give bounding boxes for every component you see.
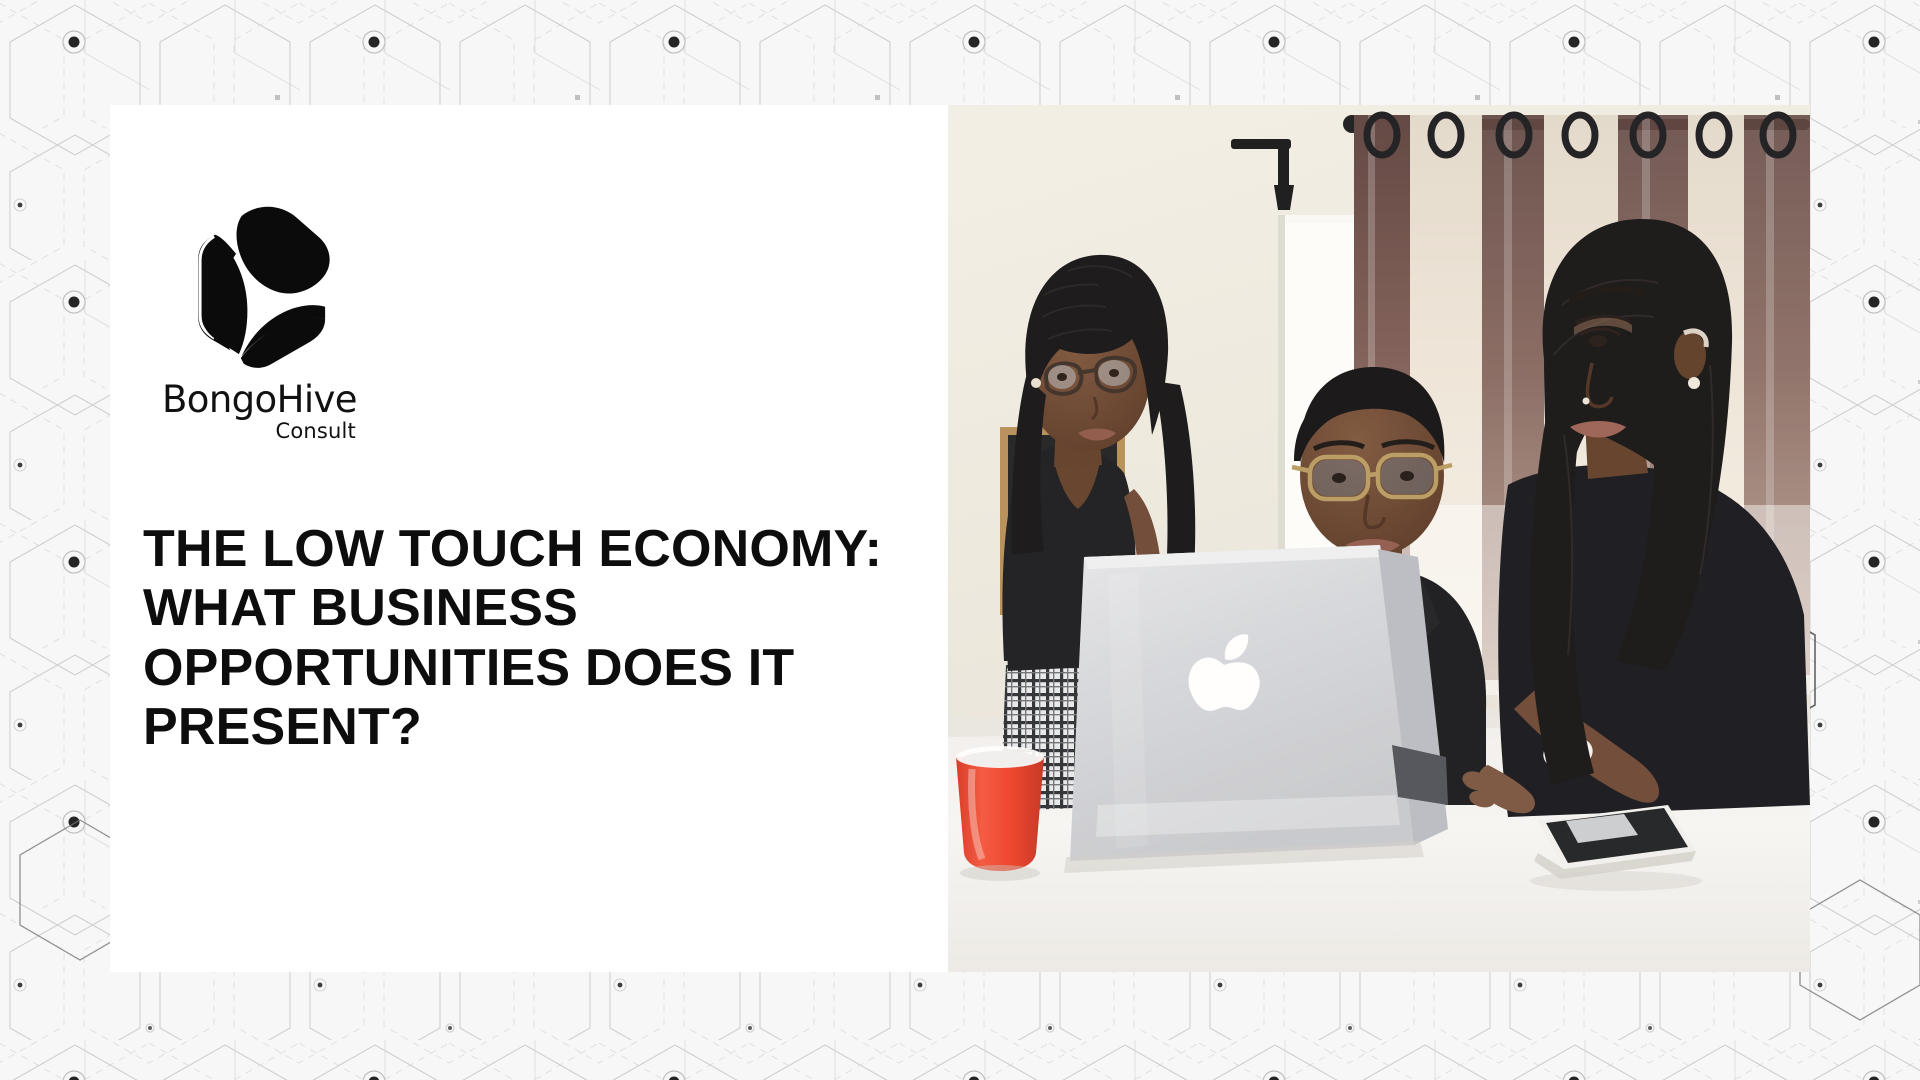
headline-line-2: WHAT BUSINESS OPPORTUNITIES DOES IT PRES…: [143, 579, 913, 757]
brand-subname: Consult: [162, 420, 358, 443]
bongohive-hexagon-logo-icon: [160, 195, 350, 375]
page-title: THE LOW TOUCH ECONOMY: WHAT BUSINESS OPP…: [143, 520, 913, 757]
content-card: BongoHive Consult THE LOW TOUCH ECONOMY:…: [110, 105, 950, 972]
headline-line-1: THE LOW TOUCH ECONOMY:: [143, 520, 913, 579]
brand-name: BongoHive: [162, 381, 358, 418]
brand-logo: BongoHive Consult: [140, 195, 390, 443]
poster-canvas: BongoHive Consult THE LOW TOUCH ECONOMY:…: [0, 0, 1920, 1080]
brand-wordmark: BongoHive Consult: [162, 381, 358, 443]
hero-photo: Bo bu NO BU: [948, 105, 1810, 972]
